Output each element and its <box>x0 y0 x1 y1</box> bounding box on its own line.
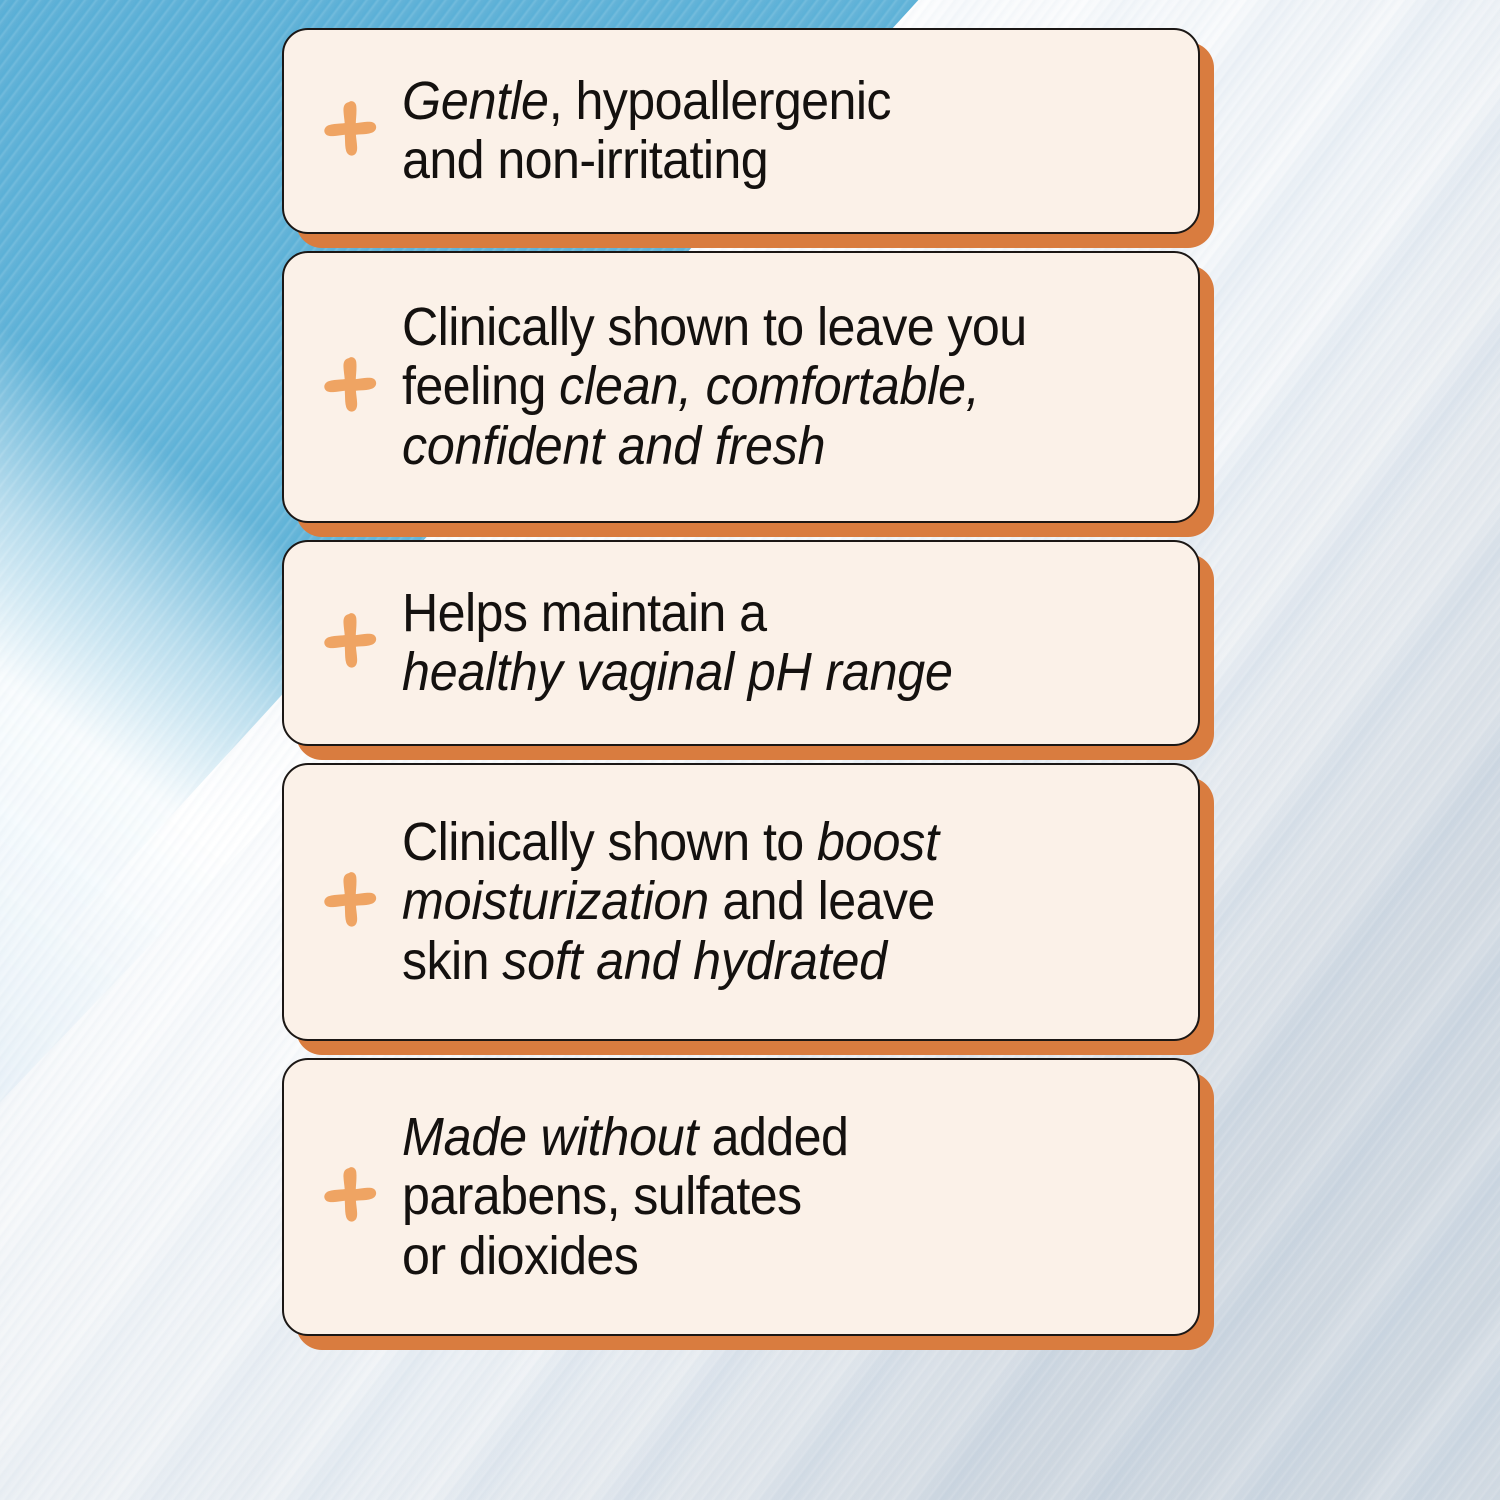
benefit-card: Helps maintain ahealthy vaginal pH range <box>282 540 1200 746</box>
benefit-card: Made without addedparabens, sulfatesor d… <box>282 1058 1200 1336</box>
emphasis-text: moisturization <box>402 871 709 931</box>
benefit-text: Clinically shown to leave youfeeling cle… <box>402 298 1111 476</box>
plus-icon <box>314 866 386 938</box>
plain-text: Helps maintain a <box>402 583 766 643</box>
plain-text: feeling <box>402 356 559 416</box>
plus-icon <box>314 95 386 167</box>
plain-text: Clinically shown to leave you <box>402 297 1027 357</box>
benefit-text-line: Made without added <box>402 1108 1111 1167</box>
infographic-stage: Gentle, hypoallergenicand non-irritating… <box>0 0 1500 1500</box>
benefit-text-line: parabens, sulfates <box>402 1167 1111 1226</box>
plain-text: parabens, sulfates <box>402 1166 802 1226</box>
plain-text: and leave <box>709 871 935 931</box>
benefit-text-line: Helps maintain a <box>402 584 1111 643</box>
benefit-text: Gentle, hypoallergenicand non-irritating <box>402 72 1111 191</box>
benefit-text: Clinically shown to boostmoisturization … <box>402 813 1111 991</box>
plain-text: added <box>698 1107 848 1167</box>
card-body: Clinically shown to leave youfeeling cle… <box>282 251 1200 523</box>
benefit-card-list: Gentle, hypoallergenicand non-irritating… <box>282 28 1200 1458</box>
card-body: Clinically shown to boostmoisturization … <box>282 763 1200 1041</box>
card-body: Gentle, hypoallergenicand non-irritating <box>282 28 1200 234</box>
plain-text: , hypoallergenic <box>549 71 891 131</box>
benefit-card: Clinically shown to boostmoisturization … <box>282 763 1200 1041</box>
benefit-text-line: Clinically shown to boost <box>402 813 1111 872</box>
benefit-card: Gentle, hypoallergenicand non-irritating <box>282 28 1200 234</box>
benefit-text-line: Clinically shown to leave you <box>402 298 1111 357</box>
emphasis-text: boost <box>817 812 939 872</box>
plain-text: or dioxides <box>402 1226 638 1286</box>
emphasis-text: clean, comfortable, <box>559 356 979 416</box>
emphasis-text: Gentle <box>402 71 549 131</box>
emphasis-text: confident and fresh <box>402 416 825 476</box>
benefit-card: Clinically shown to leave youfeeling cle… <box>282 251 1200 523</box>
benefit-text-line: feeling clean, comfortable, <box>402 357 1111 416</box>
plus-icon <box>314 607 386 679</box>
benefit-text: Made without addedparabens, sulfatesor d… <box>402 1108 1111 1286</box>
emphasis-text: Made without <box>402 1107 698 1167</box>
emphasis-text: soft and hydrated <box>502 931 887 991</box>
card-body: Made without addedparabens, sulfatesor d… <box>282 1058 1200 1336</box>
benefit-text-line: or dioxides <box>402 1227 1111 1286</box>
plain-text: Clinically shown to <box>402 812 817 872</box>
benefit-text-line: confident and fresh <box>402 417 1111 476</box>
benefit-text-line: skin soft and hydrated <box>402 932 1111 991</box>
benefit-text-line: Gentle, hypoallergenic <box>402 72 1111 131</box>
emphasis-text: healthy vaginal pH range <box>402 642 953 702</box>
plain-text: skin <box>402 931 502 991</box>
card-body: Helps maintain ahealthy vaginal pH range <box>282 540 1200 746</box>
plus-icon <box>314 1161 386 1233</box>
benefit-text: Helps maintain ahealthy vaginal pH range <box>402 584 1111 703</box>
plain-text: and non-irritating <box>402 130 768 190</box>
benefit-text-line: and non-irritating <box>402 131 1111 190</box>
benefit-text-line: healthy vaginal pH range <box>402 643 1111 702</box>
benefit-text-line: moisturization and leave <box>402 872 1111 931</box>
plus-icon <box>314 351 386 423</box>
